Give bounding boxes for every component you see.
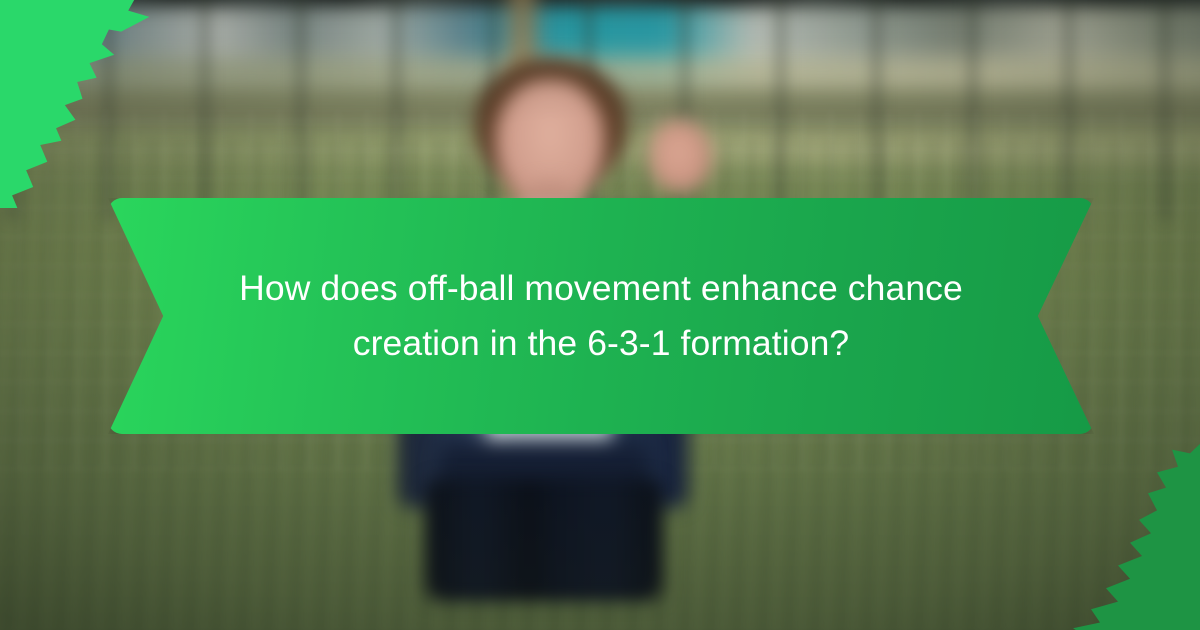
question-text: How does off-ball movement enhance chanc… bbox=[201, 261, 1001, 371]
question-line-2: creation in the 6-3-1 formation? bbox=[213, 316, 989, 371]
question-line-1: How does off-ball movement enhance chanc… bbox=[213, 261, 989, 316]
screenshot-canvas: How does off-ball movement enhance chanc… bbox=[0, 0, 1200, 630]
question-banner: How does off-ball movement enhance chanc… bbox=[108, 198, 1094, 434]
